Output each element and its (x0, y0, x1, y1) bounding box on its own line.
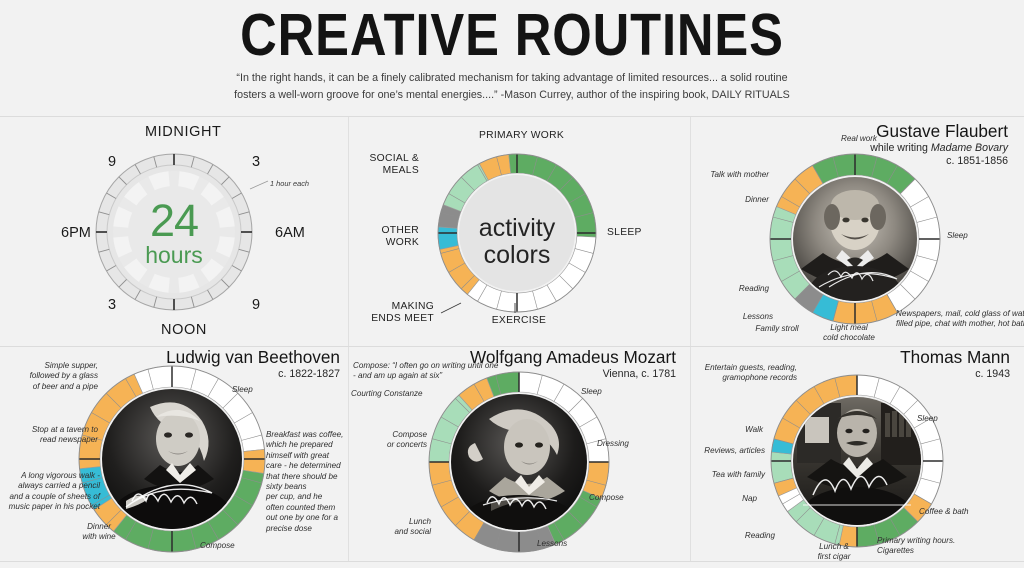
activity-label-making-ends-meet: MAKING ENDS MEET (329, 301, 434, 326)
flaubert-label-sleep: Sleep (947, 231, 1007, 241)
header-quote-line-1: “In the right hands, it can be a finely … (31, 70, 994, 87)
panel-person-mann: Thomas Mann c. 1943 (691, 347, 1024, 561)
flaubert-label-lessons: Lessons (711, 312, 773, 322)
mozart-label-compose-concerts: Compose or concerts (339, 430, 427, 451)
mozart-label-lunch: Lunch and social (365, 517, 431, 538)
mann-label-sleep: Sleep (917, 414, 977, 424)
panel-activity-colors: activity colors PRIMARY WORK SOCIAL & ME… (349, 117, 690, 346)
ring-segment-other_work (771, 452, 793, 483)
activity-label-other-work: OTHER WORK (337, 225, 419, 250)
beethoven-label-sleep: Sleep (232, 385, 290, 395)
mann-label-reviews: Reviews, articles (675, 446, 765, 456)
mozart-label-dressing: Dressing (597, 439, 669, 449)
legend-center-value: 24 hours (104, 199, 244, 267)
page-title: CREATIVE ROUTINES (72, 4, 953, 66)
mann-label-reading: Reading (709, 531, 775, 541)
mann-label-lunch: Lunch & first cigar (799, 542, 869, 563)
mann-label-primary-writing: Primary writing hours. Cigarettes (877, 536, 997, 557)
mozart-label-sleep: Sleep (581, 387, 639, 397)
activity-center-line-1: activity (437, 215, 597, 242)
flaubert-label-dinner: Dinner (687, 195, 769, 205)
panel-person-flaubert: Gustave Flaubert while writing Madame Bo… (691, 117, 1024, 346)
activity-center-line-2: colors (437, 242, 597, 269)
header: CREATIVE ROUTINES “In the right hands, i… (0, 0, 1024, 116)
mozart-label-lessons: Lessons (537, 539, 607, 549)
beethoven-label-dinner: Dinner with wine (66, 522, 132, 543)
legend-center-number: 24 (104, 199, 244, 243)
infographic-canvas: CREATIVE ROUTINES “In the right hands, i… (0, 0, 1024, 568)
header-quote-line-2: fosters a well-worn groove for one’s men… (31, 87, 994, 104)
beethoven-label-walk: A long vigorous walk - always carried a … (0, 471, 100, 513)
beethoven-label-breakfast: Breakfast was coffee, which he prepared … (266, 430, 346, 534)
flaubert-label-reading: Reading (687, 284, 769, 294)
activity-label-social-meals: SOCIAL & MEALS (339, 153, 419, 178)
activity-label-sleep: SLEEP (607, 227, 687, 239)
ring-segment-social_meals (243, 449, 265, 473)
beethoven-label-tavern: Stop at a tavern to read newspaper (0, 425, 98, 446)
beethoven-label-supper: Simple supper, followed by a glass of be… (0, 361, 98, 392)
mann-label-nap: Nap (695, 494, 757, 504)
flaubert-label-light-meal: Light meal cold chocolate (811, 323, 887, 344)
activity-label-primary-work: PRIMARY WORK (459, 130, 584, 142)
legend-center-unit: hours (104, 243, 244, 267)
beethoven-label-compose: Compose (200, 541, 272, 551)
mann-label-entertain: Entertain guests, reading, gramophone re… (677, 363, 797, 384)
divider-bottom (0, 561, 1024, 562)
mozart-label-compose: Compose (589, 493, 661, 503)
flaubert-label-newspapers: Newspapers, mail, cold glass of water, f… (896, 309, 1024, 330)
flaubert-label-talk-with-mother: Talk with mother (679, 170, 769, 180)
panel-person-mozart: Wolfgang Amadeus Mozart Vienna, c. 1781 (349, 347, 690, 561)
mozart-label-courting: Courting Constanze (351, 389, 481, 399)
panel-24-hour-legend: MIDNIGHT NOON 6AM 6PM 3 9 3 9 1 hour eac… (0, 117, 348, 346)
activity-label-exercise: EXERCISE (474, 315, 564, 327)
flaubert-label-family-stroll: Family stroll (743, 324, 811, 334)
activity-colors-center-text: activity colors (437, 215, 597, 269)
panel-person-beethoven: Ludwig van Beethoven c. 1822-1827 (0, 347, 348, 561)
flaubert-label-real-work: Real work (819, 134, 899, 144)
mann-label-coffee: Coffee & bath (919, 507, 1015, 517)
mann-label-walk: Walk (687, 425, 763, 435)
mozart-label-compose-quote: Compose: “I often go on writing until on… (353, 361, 563, 382)
mann-label-tea: Tea with family (679, 470, 765, 480)
